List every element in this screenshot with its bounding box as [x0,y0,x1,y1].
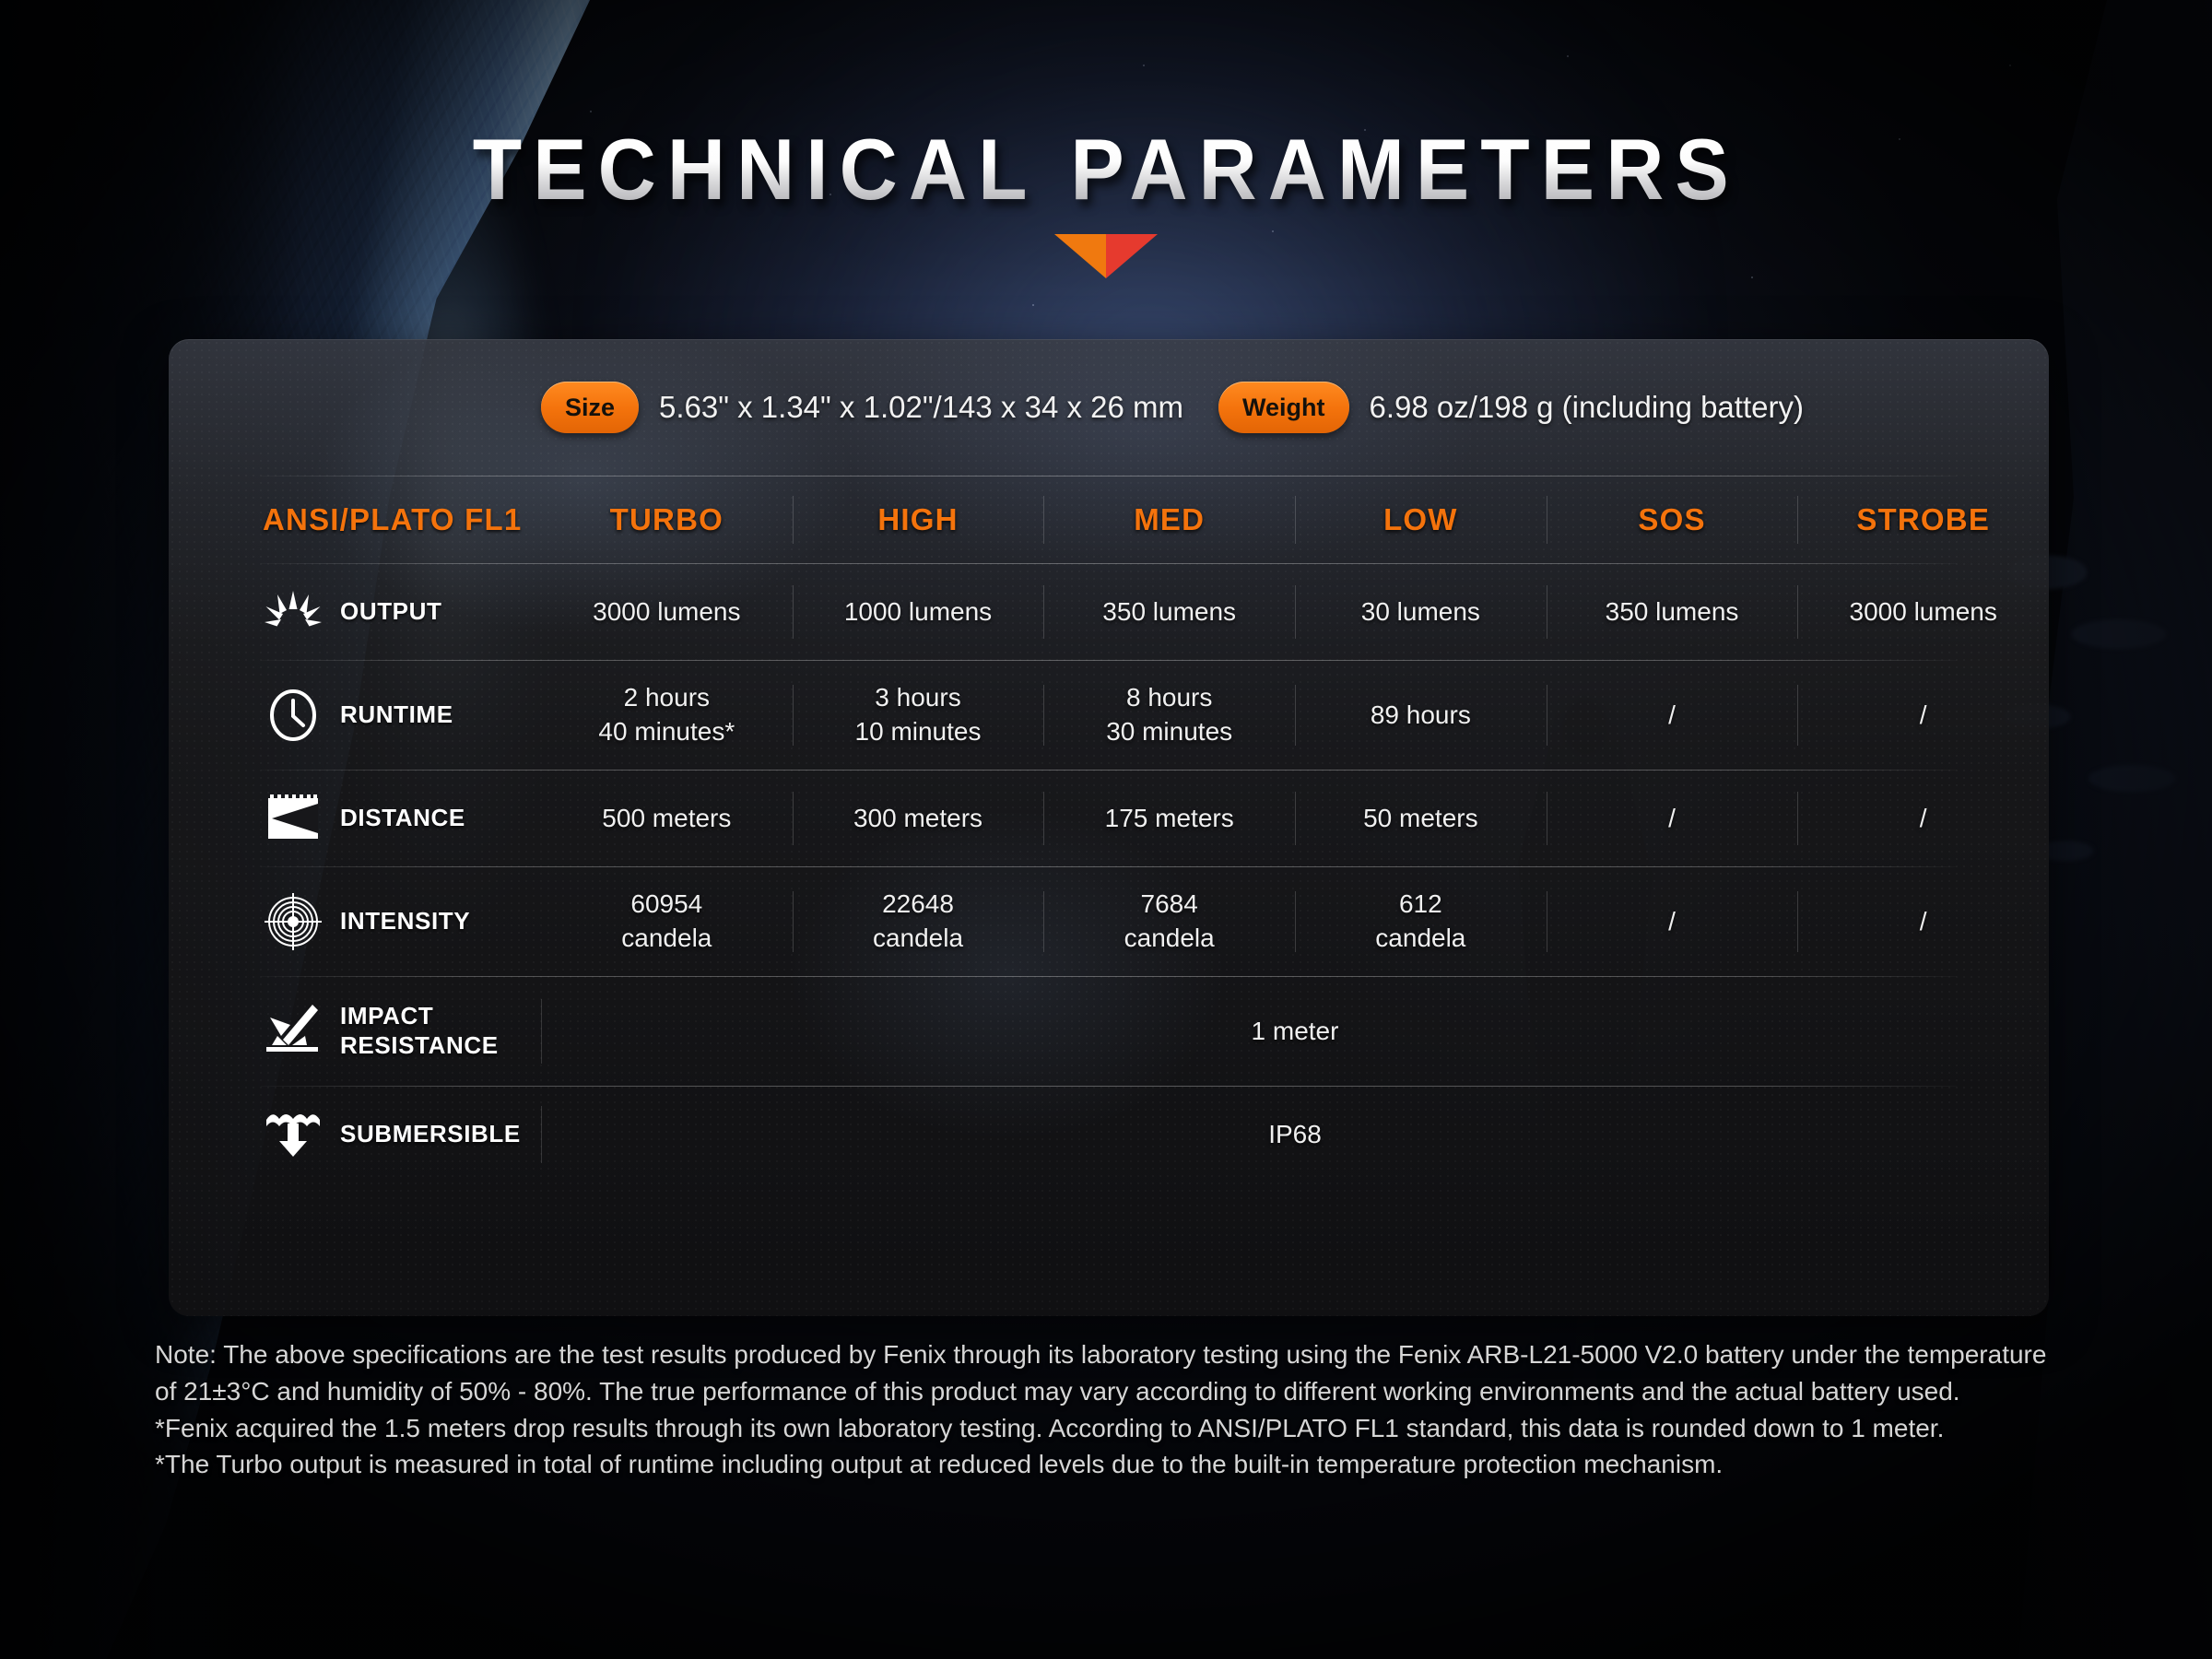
clock-icon [263,689,324,741]
cell-intensity-high: 22648candela [793,867,1044,976]
size-weight-row: Size 5.63" x 1.34" x 1.02"/143 x 34 x 26… [169,339,2049,476]
column-header-strobe: STROBE [1797,477,2049,563]
row-cells: 1 meter [541,977,2049,1086]
weight-badge: Weight [1218,382,1349,433]
cell-distance-med: 175 meters [1043,771,1295,866]
row-cells: 2 hours40 minutes* 3 hours10 minutes 8 h… [541,661,2049,770]
row-label-intensity: INTENSITY [169,867,541,976]
cell-distance-high: 300 meters [793,771,1044,866]
table-header-row: ANSI/PLATO FL1 TURBO HIGH MED LOW SOS ST… [169,477,2049,563]
table-row: IMPACTRESISTANCE 1 meter [169,977,2049,1086]
sunburst-icon [263,591,324,633]
column-header-low: LOW [1295,477,1547,563]
note-main: Note: The above specifications are the t… [155,1336,2067,1410]
cell-runtime-low: 89 hours [1295,661,1547,770]
target-icon [263,893,324,950]
cell-distance-strobe: / [1797,771,2049,866]
cell-output-high: 1000 lumens [793,564,1044,660]
cell-intensity-low: 612candela [1295,867,1547,976]
cell-intensity-strobe: / [1797,867,2049,976]
chevron-right-half [1106,234,1158,278]
cell-runtime-strobe: / [1797,661,2049,770]
cell-runtime-sos: / [1547,661,1798,770]
header-cells: TURBO HIGH MED LOW SOS STROBE [541,477,2049,563]
impact-arrow-icon [263,1005,324,1058]
page-title: TECHNICAL PARAMETERS [472,120,1739,219]
specs-panel: Size 5.63" x 1.34" x 1.02"/143 x 34 x 26… [169,339,2049,1316]
row-label-text: DISTANCE [340,804,465,833]
size-badge: Size [541,382,639,433]
row-label-output: OUTPUT [169,564,541,660]
column-header-turbo: TURBO [541,477,793,563]
table-row: INTENSITY 60954candela 22648candela 7684… [169,867,2049,976]
row-label-text: SUBMERSIBLE [340,1120,521,1149]
table-row: OUTPUT 3000 lumens 1000 lumens 350 lumen… [169,564,2049,660]
cell-impact-resistance-value: 1 meter [541,977,2049,1086]
specs-table: ANSI/PLATO FL1 TURBO HIGH MED LOW SOS ST… [169,476,2049,1182]
cell-distance-low: 50 meters [1295,771,1547,866]
row-label-submersible: SUBMERSIBLE [169,1087,541,1182]
cell-runtime-med: 8 hours30 minutes [1043,661,1295,770]
cell-output-med: 350 lumens [1043,564,1295,660]
table-row: RUNTIME 2 hours40 minutes* 3 hours10 min… [169,661,2049,770]
table-row: DISTANCE 500 meters 300 meters 175 meter… [169,771,2049,866]
cell-distance-turbo: 500 meters [541,771,793,866]
cell-intensity-sos: / [1547,867,1798,976]
row-label-text: IMPACTRESISTANCE [340,1002,499,1060]
chevron-left-half [1054,234,1106,278]
row-label-distance: DISTANCE [169,771,541,866]
cell-output-turbo: 3000 lumens [541,564,793,660]
cell-runtime-high: 3 hours10 minutes [793,661,1044,770]
cell-runtime-turbo: 2 hours40 minutes* [541,661,793,770]
ruler-beam-icon [263,794,324,842]
notes-block: Note: The above specifications are the t… [155,1336,2067,1483]
cell-output-sos: 350 lumens [1547,564,1798,660]
weight-value: 6.98 oz/198 g (including battery) [1370,390,1804,425]
cell-intensity-med: 7684candela [1043,867,1295,976]
note-drop-test: *Fenix acquired the 1.5 meters drop resu… [155,1410,2067,1447]
row-label-impact-resistance: IMPACTRESISTANCE [169,977,541,1086]
table-header-first-cell: ANSI/PLATO FL1 [169,477,541,563]
row-cells: 500 meters 300 meters 175 meters 50 mete… [541,771,2049,866]
row-label-text: OUTPUT [340,597,441,627]
row-cells: IP68 [541,1087,2049,1182]
cell-output-strobe: 3000 lumens [1797,564,2049,660]
cell-distance-sos: / [1547,771,1798,866]
row-cells: 60954candela 22648candela 7684candela 61… [541,867,2049,976]
column-header-sos: SOS [1547,477,1798,563]
note-turbo: *The Turbo output is measured in total o… [155,1446,2067,1483]
cell-submersible-value: IP68 [541,1087,2049,1182]
table-row: SUBMERSIBLE IP68 [169,1087,2049,1182]
column-header-ansi: ANSI/PLATO FL1 [263,501,522,538]
size-value: 5.63" x 1.34" x 1.02"/143 x 34 x 26 mm [659,390,1183,425]
row-label-runtime: RUNTIME [169,661,541,770]
water-drop-icon [263,1111,324,1159]
row-cells: 3000 lumens 1000 lumens 350 lumens 30 lu… [541,564,2049,660]
cell-output-low: 30 lumens [1295,564,1547,660]
column-header-high: HIGH [793,477,1044,563]
row-label-text: RUNTIME [340,700,453,730]
title-block: TECHNICAL PARAMETERS [0,120,2212,234]
cell-intensity-turbo: 60954candela [541,867,793,976]
column-header-med: MED [1043,477,1295,563]
row-label-text: INTENSITY [340,907,470,936]
